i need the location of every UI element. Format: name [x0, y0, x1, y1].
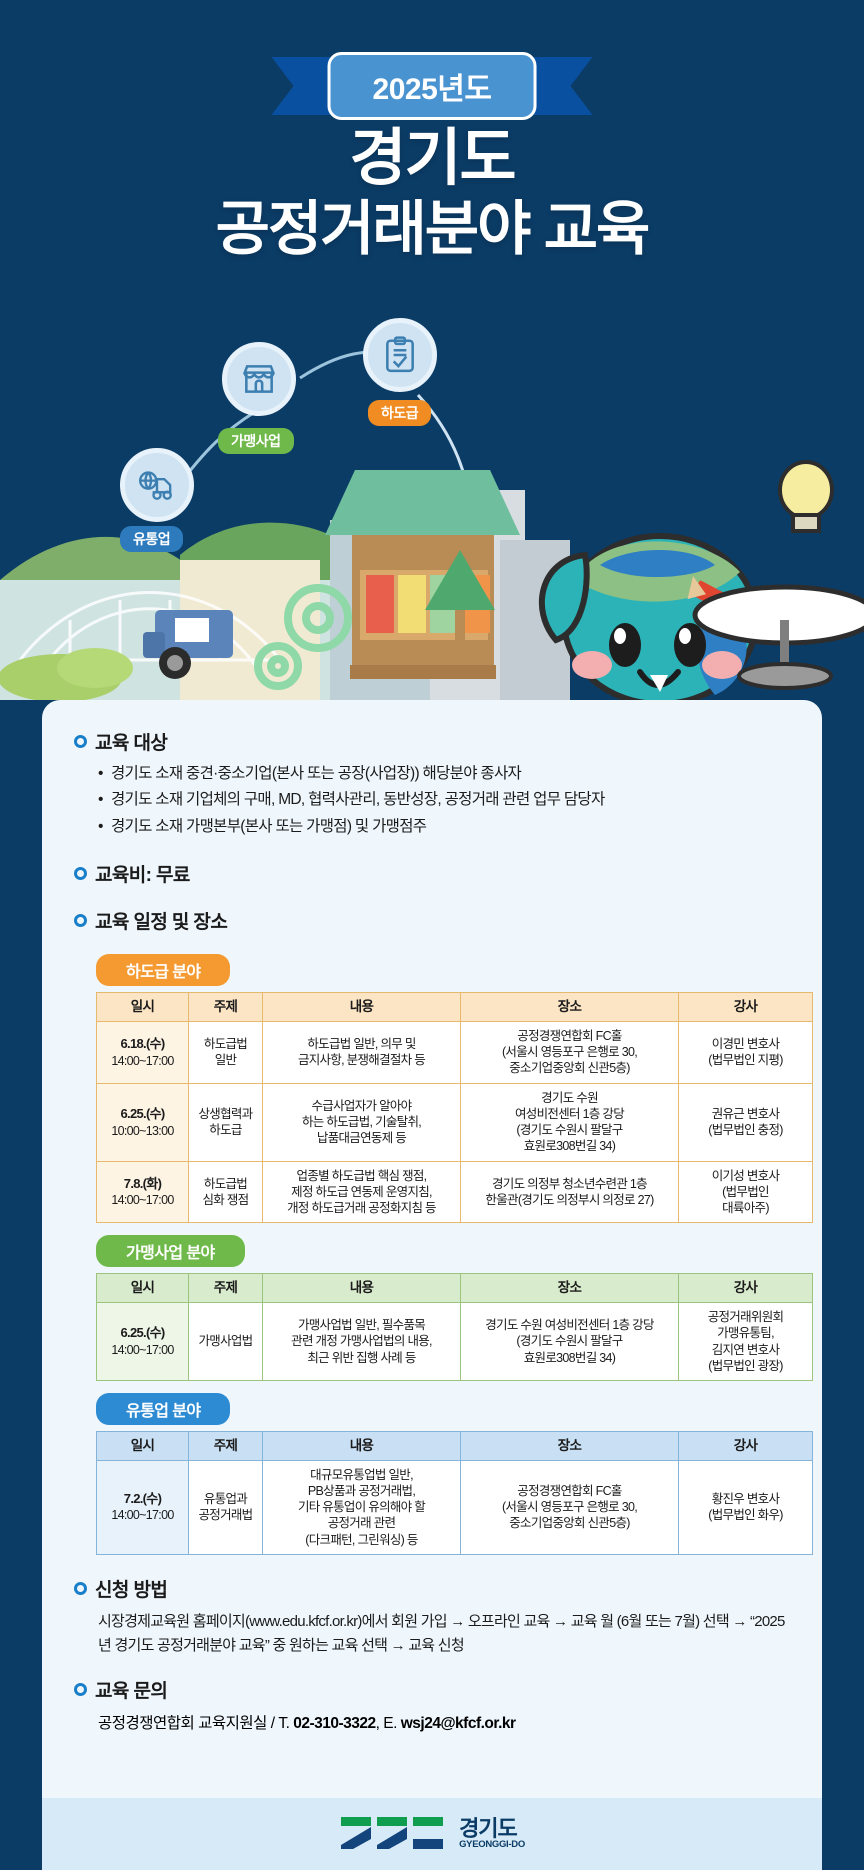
section-apply: 신청 방법 시장경제교육원 홈페이지(www.edu.kfcf.or.kr)에서… — [74, 1575, 790, 1658]
clipboard-check-icon-node — [363, 318, 437, 392]
hero-illustration: 가맹사업 하도급 유통업 — [0, 300, 864, 700]
cell-place: 경기도 의정부 청소년수련관 1층한울관(경기도 의정부시 의정로 27) — [461, 1161, 679, 1223]
table-header-row: 일시주제내용장소강사 — [97, 1274, 813, 1303]
cell-datetime: 7.2.(수)14:00~17:00 — [97, 1460, 189, 1554]
badge-subcontract: 하도급 — [368, 400, 431, 426]
section-fee-heading: 교육비: 무료 — [74, 860, 790, 887]
column-header: 강사 — [679, 993, 813, 1022]
list-item: 경기도 소재 중견·중소기업(본사 또는 공장(사업장)) 해당분야 종사자 — [98, 763, 790, 785]
section-apply-title: 신청 방법 — [95, 1575, 167, 1602]
cell-topic: 가맹사업법 — [189, 1303, 263, 1381]
gyeonggi-logo-icon — [339, 1815, 447, 1853]
delivery-truck-globe-icon-node — [120, 448, 194, 522]
ring-bullet-icon — [74, 914, 87, 927]
cell-content: 하도급법 일반, 의무 및금지사항, 분쟁해결절차 등 — [263, 1021, 461, 1083]
ring-bullet-icon — [74, 1582, 87, 1595]
table-row: 6.25.(수)14:00~17:00가맹사업법가맹사업법 일반, 필수품목관련… — [97, 1303, 813, 1381]
cell-place: 공정경쟁연합회 FC홀(서울시 영등포구 은행로 30,중소기업중앙회 신관5층… — [461, 1021, 679, 1083]
column-header: 일시 — [97, 993, 189, 1022]
inquiry-phone: 02-310-3322 — [293, 1715, 375, 1732]
inquiry-separator: , E. — [376, 1715, 401, 1732]
column-header: 강사 — [679, 1432, 813, 1461]
cell-content: 업종별 하도급법 핵심 쟁점,제정 하도급 연동제 운영지침,개정 하도급거래 … — [263, 1161, 461, 1223]
inquiry-body: 공정경쟁연합회 교육지원실 / T. 02-310-3322, E. wsj24… — [98, 1711, 790, 1733]
table-row: 6.18.(수)14:00~17:00하도급법일반하도급법 일반, 의무 및금지… — [97, 1021, 813, 1083]
section-inquiry: 교육 문의 공정경쟁연합회 교육지원실 / T. 02-310-3322, E.… — [74, 1676, 790, 1733]
cell-time: 14:00~17:00 — [100, 1507, 185, 1523]
content-panel: 교육 대상 경기도 소재 중견·중소기업(본사 또는 공장(사업장)) 해당분야… — [42, 700, 822, 1798]
column-header: 내용 — [263, 993, 461, 1022]
table-row: 6.25.(수)10:00~13:00상생협력과하도급수급사업자가 알아야하는 … — [97, 1083, 813, 1161]
table-row: 7.8.(화)14:00~17:00하도급법심화 쟁점업종별 하도급법 핵심 쟁… — [97, 1161, 813, 1223]
cell-time: 10:00~13:00 — [100, 1123, 185, 1139]
apply-body: 시장경제교육원 홈페이지(www.edu.kfcf.or.kr)에서 회원 가입… — [98, 1610, 790, 1658]
cell-content: 수급사업자가 알아야하는 하도급법, 기술탈취,납품대금연동제 등 — [263, 1083, 461, 1161]
cell-topic: 유통업과공정거래법 — [189, 1460, 263, 1554]
ribbon-tail-left — [272, 57, 334, 115]
ribbon-tail-right — [530, 57, 592, 115]
column-header: 강사 — [679, 1274, 813, 1303]
year-badge-label: 2025년도 — [328, 52, 537, 120]
delivery-truck-globe-icon — [138, 466, 176, 504]
column-header: 장소 — [461, 1274, 679, 1303]
gyeonggi-logo-text: 경기도 GYEONGGI-DO — [459, 1818, 525, 1850]
cell-content: 가맹사업법 일반, 필수품목관련 개정 가맹사업법의 내용,최근 위반 집행 사… — [263, 1303, 461, 1381]
section-schedule-heading: 교육 일정 및 장소 — [74, 907, 790, 934]
column-header: 장소 — [461, 993, 679, 1022]
cell-lecturer: 이기성 변호사(법무법인대륙아주) — [679, 1161, 813, 1223]
poster-title: 경기도 공정거래분야 교육 — [0, 122, 864, 265]
cell-datetime: 6.25.(수)14:00~17:00 — [97, 1303, 189, 1381]
column-header: 내용 — [263, 1432, 461, 1461]
cell-place: 공정경쟁연합회 FC홀(서울시 영등포구 은행로 30,중소기업중앙회 신관5층… — [461, 1460, 679, 1554]
schedule-tables: 하도급 분야일시주제내용장소강사6.18.(수)14:00~17:00하도급법일… — [74, 942, 790, 1554]
list-item: 경기도 소재 기업체의 구매, MD, 협력사관리, 동반성장, 공정거래 관련… — [98, 789, 790, 811]
cell-topic: 하도급법심화 쟁점 — [189, 1161, 263, 1223]
cell-datetime: 6.25.(수)10:00~13:00 — [97, 1083, 189, 1161]
badge-distribution: 유통업 — [120, 526, 183, 552]
section-schedule-title: 교육 일정 및 장소 — [95, 907, 227, 934]
poster-root: 2025년도 경기도 공정거래분야 교육 — [0, 0, 864, 1870]
poster-footer: 경기도 GYEONGGI-DO — [42, 1798, 822, 1870]
section-apply-heading: 신청 방법 — [74, 1575, 790, 1602]
section-inquiry-title: 교육 문의 — [95, 1676, 167, 1703]
schedule-table-orange: 일시주제내용장소강사6.18.(수)14:00~17:00하도급법일반하도급법 … — [96, 992, 813, 1223]
column-header: 주제 — [189, 1274, 263, 1303]
market-stall — [325, 470, 520, 679]
list-item: 경기도 소재 가맹본부(본사 또는 가맹점) 및 가맹점주 — [98, 816, 790, 838]
ring-bullet-icon — [74, 867, 87, 880]
cell-lecturer: 황진우 변호사(법무법인 화우) — [679, 1460, 813, 1554]
section-fee-title: 교육비: 무료 — [95, 860, 190, 887]
table-header-row: 일시주제내용장소강사 — [97, 993, 813, 1022]
ring-bullet-icon — [74, 735, 87, 748]
section-fee: 교육비: 무료 — [74, 860, 790, 887]
column-header: 일시 — [97, 1432, 189, 1461]
table-row: 7.2.(수)14:00~17:00유통업과공정거래법대규모유통업법 일반,PB… — [97, 1460, 813, 1554]
section-target-heading: 교육 대상 — [74, 728, 790, 755]
category-pill-orange: 하도급 분야 — [96, 954, 230, 986]
year-ribbon: 2025년도 — [272, 52, 593, 120]
schedule-table-blue: 일시주제내용장소강사7.2.(수)14:00~17:00유통업과공정거래법대규모… — [96, 1431, 813, 1555]
cell-time: 14:00~17:00 — [100, 1342, 185, 1358]
cell-lecturer: 공정거래위원회가맹유통팀,김지연 변호사(법무법인 광장) — [679, 1303, 813, 1381]
clipboard-check-icon — [381, 336, 419, 374]
section-inquiry-heading: 교육 문의 — [74, 1676, 790, 1703]
title-line-1: 경기도 — [0, 122, 864, 195]
badge-franchise: 가맹사업 — [218, 428, 294, 454]
category-pill-green: 가맹사업 분야 — [96, 1235, 245, 1267]
section-target: 교육 대상 경기도 소재 중견·중소기업(본사 또는 공장(사업장)) 해당분야… — [74, 728, 790, 838]
cell-lecturer: 권유근 변호사(법무법인 충정) — [679, 1083, 813, 1161]
bulb-idea — [780, 462, 832, 531]
cell-content: 대규모유통업법 일반,PB상품과 공정거래법,기타 유통업이 유의해야 할공정거… — [263, 1460, 461, 1554]
poster-header: 2025년도 경기도 공정거래분야 교육 — [0, 0, 864, 700]
ring-bullet-icon — [74, 1683, 87, 1696]
title-line-2: 공정거래분야 교육 — [0, 195, 864, 265]
section-target-title: 교육 대상 — [95, 728, 167, 755]
inquiry-org: 공정경쟁연합회 교육지원실 / T. — [98, 1715, 293, 1732]
table-header-row: 일시주제내용장소강사 — [97, 1432, 813, 1461]
column-header: 내용 — [263, 1274, 461, 1303]
column-header: 주제 — [189, 993, 263, 1022]
cell-time: 14:00~17:00 — [100, 1053, 185, 1069]
cell-lecturer: 이경민 변호사(법무법인 지평) — [679, 1021, 813, 1083]
column-header: 주제 — [189, 1432, 263, 1461]
category-pill-blue: 유통업 분야 — [96, 1393, 230, 1425]
section-schedule: 교육 일정 및 장소 하도급 분야일시주제내용장소강사6.18.(수)14:00… — [74, 907, 790, 1554]
schedule-table-green: 일시주제내용장소강사6.25.(수)14:00~17:00가맹사업법가맹사업법 … — [96, 1273, 813, 1381]
cell-datetime: 6.18.(수)14:00~17:00 — [97, 1021, 189, 1083]
inquiry-email[interactable]: wsj24@kfcf.or.kr — [401, 1715, 516, 1732]
logo-english: GYEONGGI-DO — [459, 1840, 525, 1850]
cell-datetime: 7.8.(화)14:00~17:00 — [97, 1161, 189, 1223]
cell-topic: 상생협력과하도급 — [189, 1083, 263, 1161]
target-list: 경기도 소재 중견·중소기업(본사 또는 공장(사업장)) 해당분야 종사자 경… — [98, 763, 790, 838]
cell-place: 경기도 수원여성비전센터 1층 강당(경기도 수원시 팔달구효원로308번길 3… — [461, 1083, 679, 1161]
mascot — [542, 536, 864, 700]
store-icon-node — [222, 342, 296, 416]
column-header: 일시 — [97, 1274, 189, 1303]
cell-time: 14:00~17:00 — [100, 1192, 185, 1208]
store-icon — [240, 360, 278, 398]
column-header: 장소 — [461, 1432, 679, 1461]
logo-korean: 경기도 — [459, 1818, 525, 1840]
cell-place: 경기도 수원 여성비전센터 1층 강당(경기도 수원시 팔달구효원로308번길 … — [461, 1303, 679, 1381]
cell-topic: 하도급법일반 — [189, 1021, 263, 1083]
